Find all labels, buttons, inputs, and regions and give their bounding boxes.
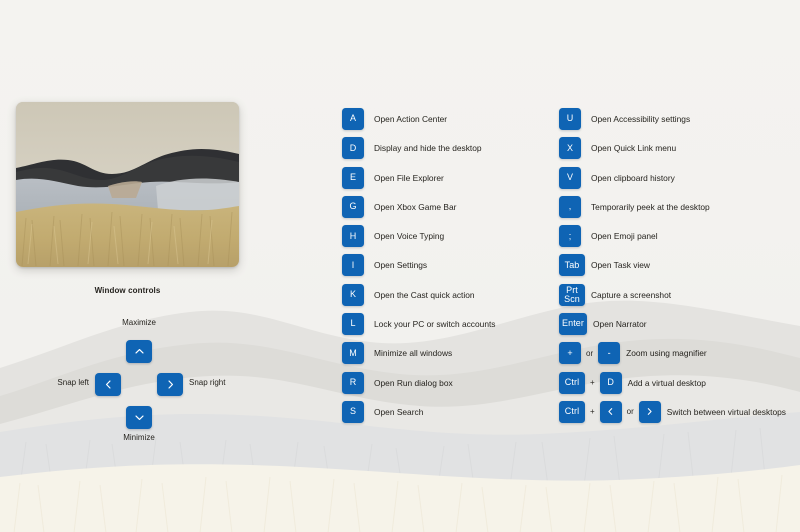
shortcut-keys: R	[342, 372, 364, 394]
shortcut-keys: Ctrl+or	[559, 401, 661, 423]
shortcut-description: Zoom using magnifier	[626, 342, 707, 364]
shortcut-row: GOpen Xbox Game Bar	[342, 196, 496, 225]
key-label: ,	[569, 202, 572, 211]
key-label: L	[350, 319, 355, 328]
shortcut-keys: K	[342, 284, 364, 306]
key-label: U	[567, 114, 574, 123]
shortcut-row: +or-Zoom using magnifier	[559, 342, 786, 371]
key-joiner: or	[622, 407, 639, 416]
chevron-down-icon	[134, 412, 145, 423]
key-label: X	[567, 144, 573, 153]
key-ctrl[interactable]: Ctrl	[559, 401, 585, 423]
shortcut-description: Minimize all windows	[374, 342, 452, 364]
key-joiner: +	[585, 378, 600, 387]
shortcut-row: VOpen clipboard history	[559, 167, 786, 196]
shortcut-description: Capture a screenshot	[591, 284, 671, 306]
key-x[interactable]: X	[559, 137, 581, 159]
shortcut-description: Lock your PC or switch accounts	[374, 313, 496, 335]
shortcut-row: MMinimize all windows	[342, 342, 496, 371]
key-label: D	[607, 378, 614, 387]
chevron-right-icon	[165, 379, 176, 390]
key-label: V	[567, 173, 573, 182]
shortcut-row: DDisplay and hide the desktop	[342, 137, 496, 166]
shortcut-keys: U	[559, 108, 581, 130]
key-label: M	[349, 349, 357, 358]
key-[interactable]: ,	[559, 196, 581, 218]
wallpaper-thumbnail	[16, 102, 239, 267]
key-label: ;	[569, 232, 572, 241]
shortcut-description: Open Voice Typing	[374, 225, 444, 247]
shortcut-description: Open clipboard history	[591, 167, 675, 189]
shortcut-keys: Enter	[559, 313, 587, 335]
key-a[interactable]: A	[342, 108, 364, 130]
shortcut-keys: +or-	[559, 342, 620, 364]
key-label: R	[350, 378, 357, 387]
shortcut-row: UOpen Accessibility settings	[559, 108, 786, 137]
shortcut-row: ;Open Emoji panel	[559, 225, 786, 254]
window-control-minimize-label: Minimize	[112, 433, 166, 442]
shortcut-row: LLock your PC or switch accounts	[342, 313, 496, 342]
shortcut-row: Ctrl+DAdd a virtual desktop	[559, 372, 786, 401]
key-label: D	[350, 144, 357, 153]
key-label: Ctrl	[565, 378, 579, 387]
shortcut-list-left: AOpen Action CenterDDisplay and hide the…	[342, 108, 496, 430]
key-r[interactable]: R	[342, 372, 364, 394]
shortcut-keys: ;	[559, 225, 581, 247]
key-prt[interactable]: PrtScn	[559, 284, 585, 306]
shortcut-keys: E	[342, 167, 364, 189]
key-[interactable]: ;	[559, 225, 581, 247]
key-joiner: or	[581, 349, 598, 358]
window-control-snap-right-label: Snap right	[189, 378, 225, 387]
key-label: Enter	[562, 319, 584, 328]
shortcut-row: PrtScnCapture a screenshot	[559, 284, 786, 313]
chevron-left-icon	[103, 379, 114, 390]
shortcut-description: Open Emoji panel	[591, 225, 658, 247]
shortcut-row: HOpen Voice Typing	[342, 225, 496, 254]
shortcut-description: Open Search	[374, 401, 423, 423]
key-label-secondary: Scn	[564, 295, 580, 304]
shortcut-row: XOpen Quick Link menu	[559, 137, 786, 166]
key-s[interactable]: S	[342, 401, 364, 423]
key-[interactable]: -	[598, 342, 620, 364]
window-control-snap-left-key[interactable]	[95, 373, 121, 396]
shortcut-description: Open Run dialog box	[374, 372, 453, 394]
key-label: -	[608, 349, 611, 358]
key-ctrl[interactable]: Ctrl	[559, 372, 585, 394]
key-label: Ctrl	[565, 407, 579, 416]
shortcut-row: EOpen File Explorer	[342, 167, 496, 196]
shortcut-keys: S	[342, 401, 364, 423]
key-label: K	[350, 290, 356, 299]
screenshot-stage: Window controls Maximize Minimize Snap l…	[0, 0, 800, 532]
shortcut-description: Open Settings	[374, 254, 427, 276]
shortcut-keys: L	[342, 313, 364, 335]
shortcut-description: Temporarily peek at the desktop	[591, 196, 710, 218]
key-e[interactable]: E	[342, 167, 364, 189]
shortcut-keys: ,	[559, 196, 581, 218]
shortcut-keys: H	[342, 225, 364, 247]
shortcut-keys: D	[342, 137, 364, 159]
shortcut-row: IOpen Settings	[342, 254, 496, 283]
key-m[interactable]: M	[342, 342, 364, 364]
shortcut-keys: M	[342, 342, 364, 364]
key-i[interactable]: I	[342, 254, 364, 276]
shortcut-keys: I	[342, 254, 364, 276]
shortcut-keys: G	[342, 196, 364, 218]
shortcut-list-right: UOpen Accessibility settingsXOpen Quick …	[559, 108, 786, 430]
key-h[interactable]: H	[342, 225, 364, 247]
key-label: E	[350, 173, 356, 182]
chevron-up-icon	[134, 346, 145, 357]
key-chevron-left-icon[interactable]	[600, 401, 622, 423]
window-control-snap-right-key[interactable]	[157, 373, 183, 396]
key-label: +	[567, 349, 572, 358]
shortcut-description: Open Accessibility settings	[591, 108, 690, 130]
key-label: S	[350, 407, 356, 416]
key-label: A	[350, 114, 356, 123]
shortcut-description: Open Narrator	[593, 313, 647, 335]
key-tab[interactable]: Tab	[559, 254, 585, 276]
window-control-maximize-key[interactable]	[126, 340, 152, 363]
window-control-minimize-key[interactable]	[126, 406, 152, 429]
shortcut-keys: X	[559, 137, 581, 159]
key-label: H	[350, 232, 357, 241]
shortcut-row: KOpen the Cast quick action	[342, 284, 496, 313]
shortcut-keys: A	[342, 108, 364, 130]
shortcut-keys: V	[559, 167, 581, 189]
key-chevron-right-icon[interactable]	[639, 401, 661, 423]
window-control-maximize-label: Maximize	[112, 318, 166, 327]
shortcut-description: Open Quick Link menu	[591, 137, 676, 159]
shortcut-description: Add a virtual desktop	[628, 372, 706, 394]
key-joiner: +	[585, 407, 600, 416]
key-d[interactable]: D	[342, 137, 364, 159]
key-[interactable]: +	[559, 342, 581, 364]
shortcut-description: Switch between virtual desktops	[667, 401, 786, 423]
key-label: I	[352, 261, 355, 270]
shortcut-description: Open Xbox Game Bar	[374, 196, 456, 218]
window-controls-diagram: Maximize Minimize Snap left Snap right	[16, 312, 239, 440]
shortcut-row: AOpen Action Center	[342, 108, 496, 137]
shortcut-row: ROpen Run dialog box	[342, 372, 496, 401]
window-controls-title: Window controls	[16, 286, 239, 295]
shortcut-row: Ctrl+orSwitch between virtual desktops	[559, 401, 786, 430]
key-k[interactable]: K	[342, 284, 364, 306]
shortcut-description: Open Action Center	[374, 108, 447, 130]
shortcut-row: EnterOpen Narrator	[559, 313, 786, 342]
key-v[interactable]: V	[559, 167, 581, 189]
shortcut-keys: Tab	[559, 254, 585, 276]
key-d[interactable]: D	[600, 372, 622, 394]
wallpaper-image	[16, 102, 239, 267]
shortcut-keys: Ctrl+D	[559, 372, 622, 394]
key-enter[interactable]: Enter	[559, 313, 587, 335]
shortcut-description: Open File Explorer	[374, 167, 444, 189]
shortcut-row: ,Temporarily peek at the desktop	[559, 196, 786, 225]
key-u[interactable]: U	[559, 108, 581, 130]
shortcut-description: Open the Cast quick action	[374, 284, 475, 306]
shortcut-row: TabOpen Task view	[559, 254, 786, 283]
shortcut-row: SOpen Search	[342, 401, 496, 430]
shortcut-description: Display and hide the desktop	[374, 137, 482, 159]
key-l[interactable]: L	[342, 313, 364, 335]
window-control-snap-left-label: Snap left	[43, 378, 89, 387]
background-grass-gold-foreground	[0, 455, 800, 532]
key-label: G	[349, 202, 356, 211]
key-label: Tab	[565, 261, 580, 270]
shortcut-description: Open Task view	[591, 254, 650, 276]
shortcut-keys: PrtScn	[559, 284, 585, 306]
key-g[interactable]: G	[342, 196, 364, 218]
